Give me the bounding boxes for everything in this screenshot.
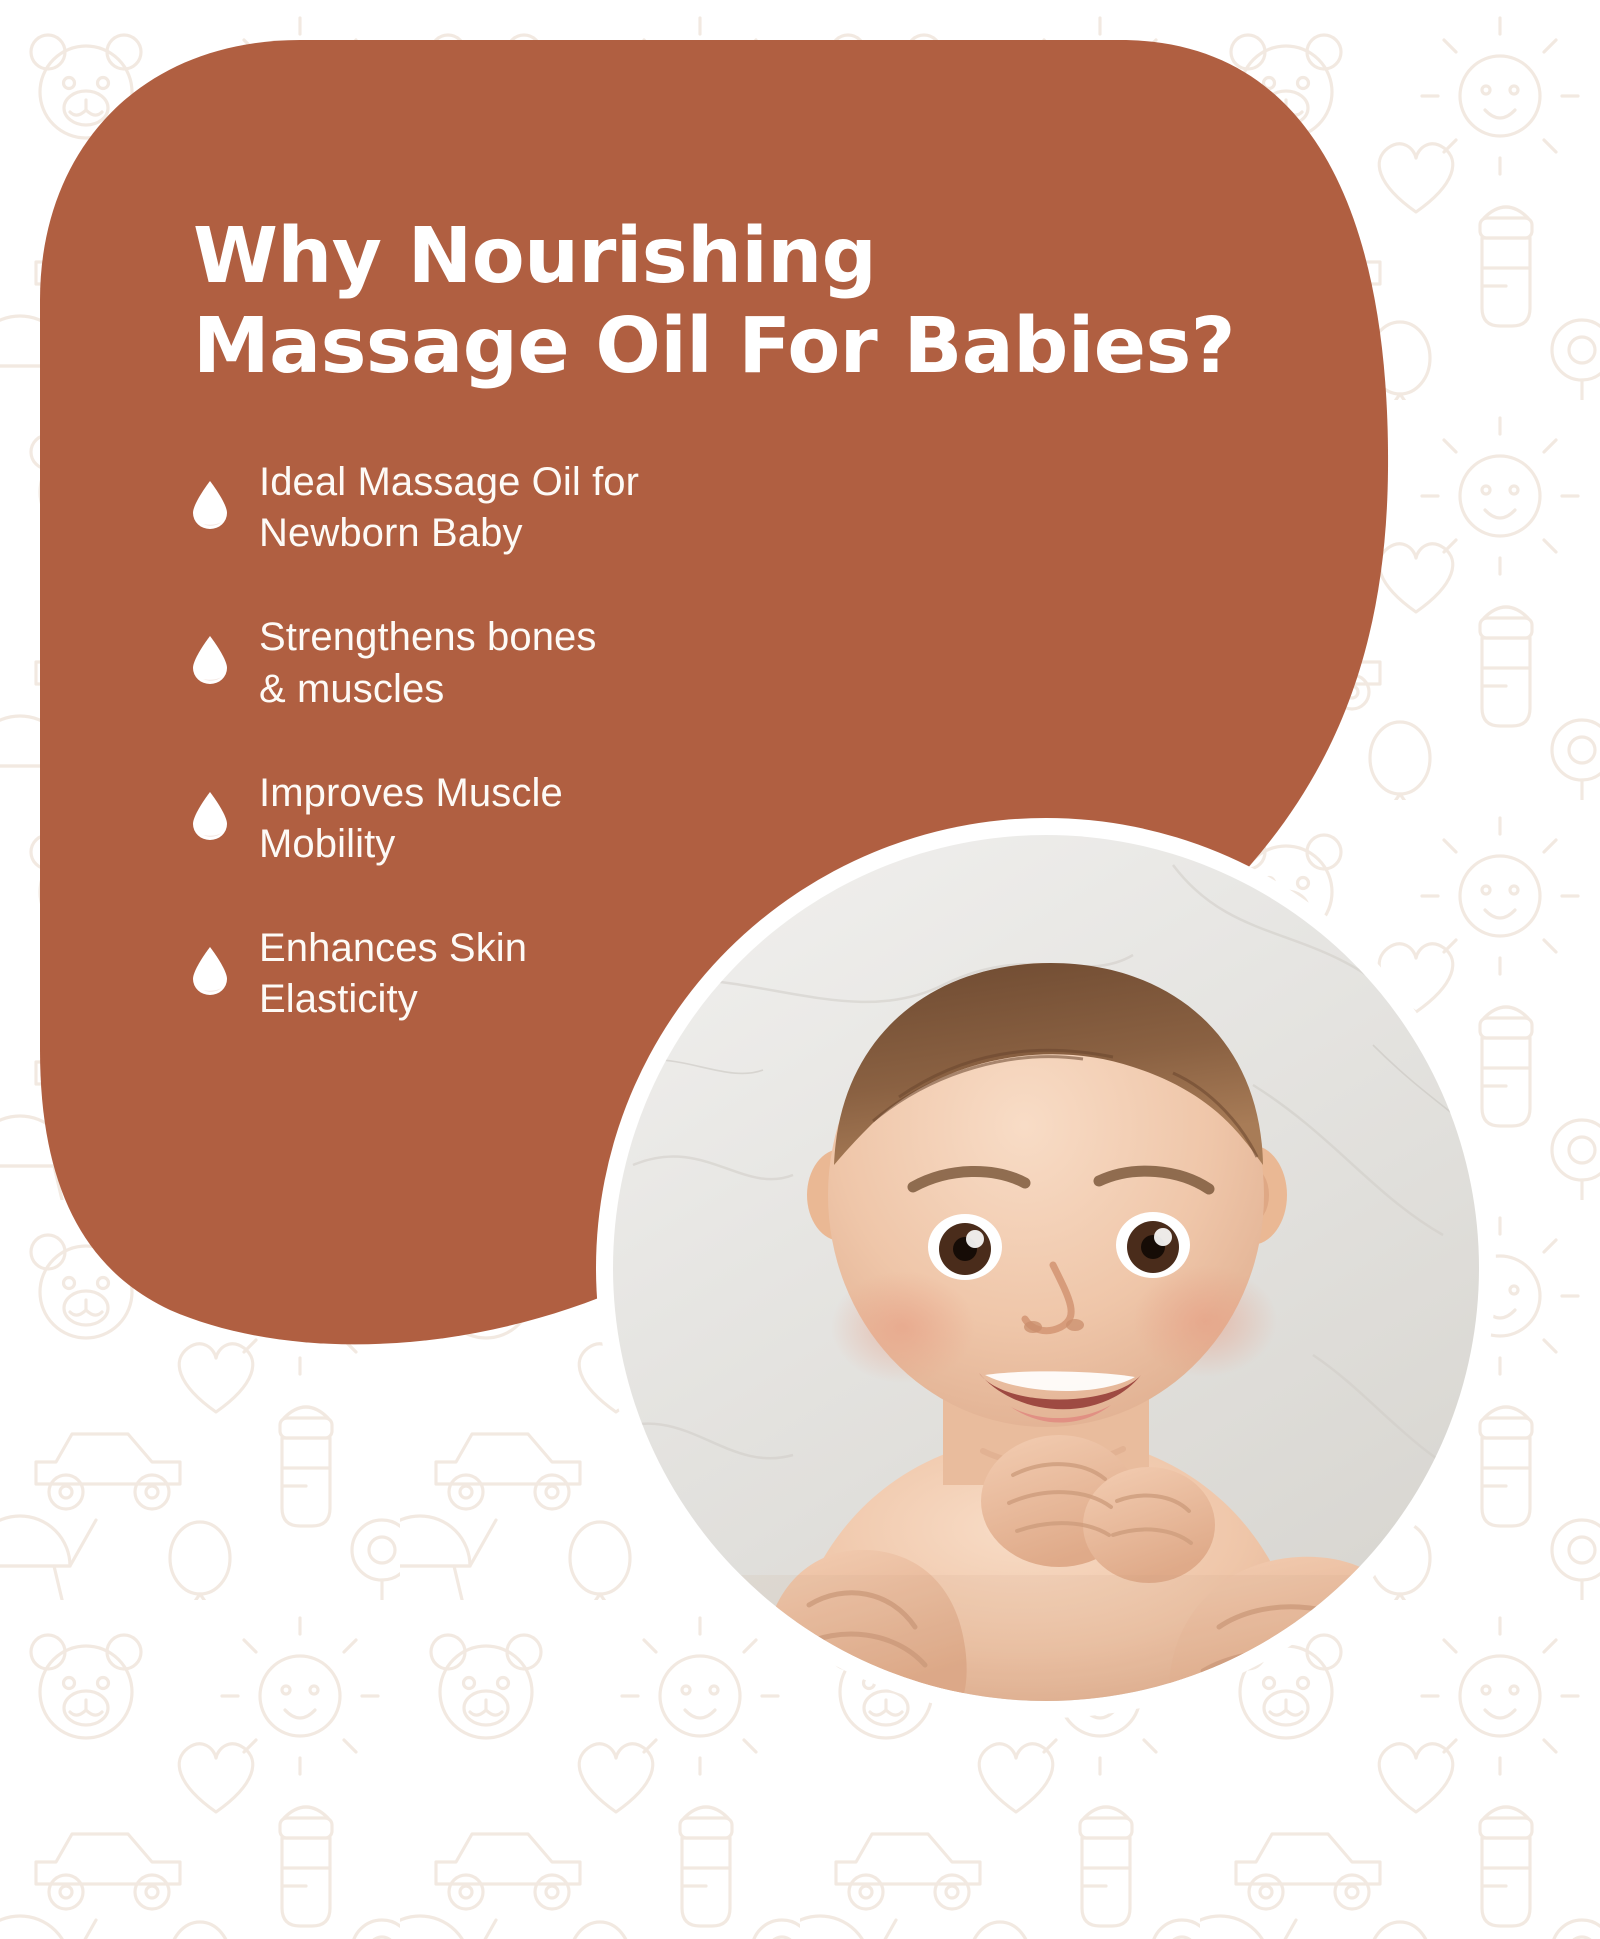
list-item: Strengthens bones & muscles — [193, 610, 833, 714]
benefit-line-2: Newborn Baby — [259, 508, 639, 559]
baby-photo-circle — [596, 818, 1496, 1718]
benefit-line-1: Enhances Skin — [259, 923, 527, 974]
smiling-baby-photo — [613, 835, 1479, 1701]
benefit-line-1: Strengthens bones — [259, 612, 597, 663]
page-title: Why Nourishing Massage Oil For Babies? — [193, 212, 1253, 392]
list-item: Ideal Massage Oil for Newborn Baby — [193, 455, 833, 559]
benefit-line-1: Improves Muscle — [259, 768, 563, 819]
benefit-text: Enhances Skin Elasticity — [259, 921, 527, 1025]
benefit-text: Improves Muscle Mobility — [259, 766, 563, 870]
page-title-line-1: Why Nourishing — [193, 212, 1253, 302]
benefit-line-2: & muscles — [259, 664, 597, 715]
benefit-line-1: Ideal Massage Oil for — [259, 457, 639, 508]
benefit-text: Strengthens bones & muscles — [259, 610, 597, 714]
benefit-line-2: Elasticity — [259, 974, 527, 1025]
oil-drop-icon — [193, 481, 227, 529]
poster-canvas: Why Nourishing Massage Oil For Babies? I… — [0, 0, 1600, 1939]
oil-drop-icon — [193, 792, 227, 840]
page-title-line-2: Massage Oil For Babies? — [193, 302, 1253, 392]
benefit-line-2: Mobility — [259, 819, 563, 870]
oil-drop-icon — [193, 636, 227, 684]
oil-drop-icon — [193, 947, 227, 995]
benefit-text: Ideal Massage Oil for Newborn Baby — [259, 455, 639, 559]
